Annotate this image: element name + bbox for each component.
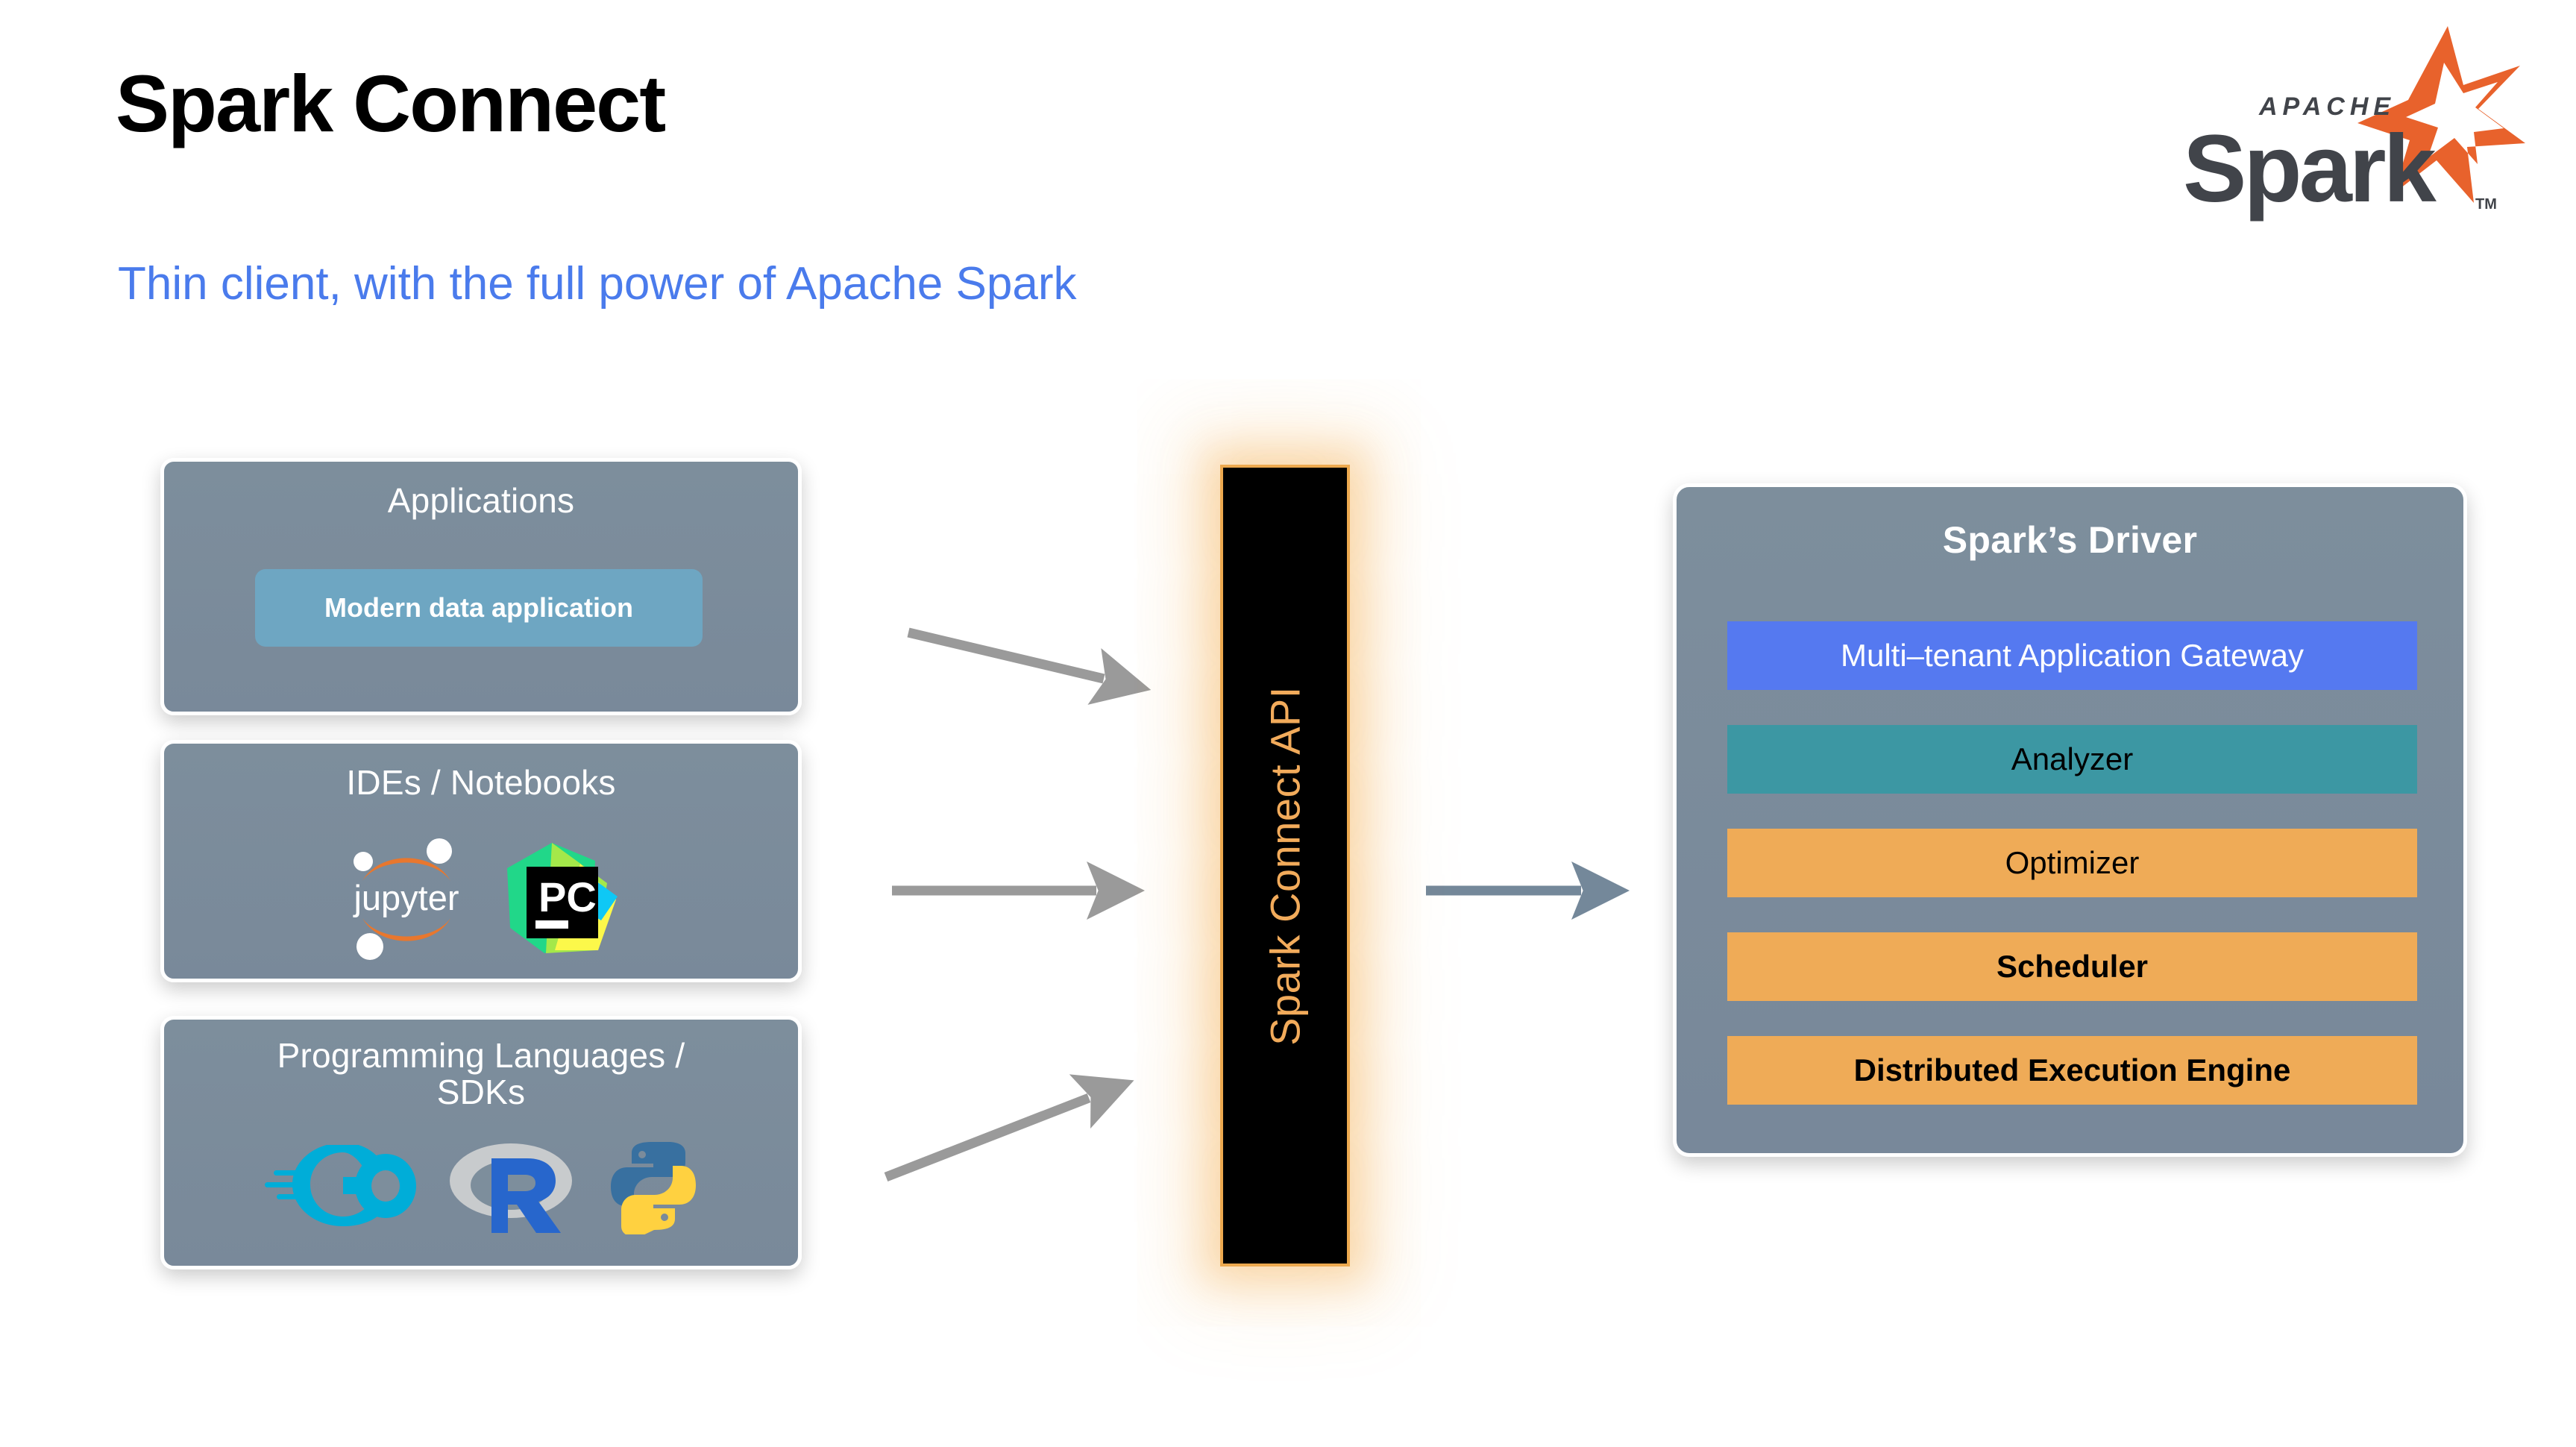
card-ides-notebooks[interactable]: IDEs / Notebooks jupyter PC: [160, 740, 802, 982]
driver-row-label: Multi–tenant Application Gateway: [1841, 638, 2304, 674]
language-logo-row: [164, 1137, 798, 1234]
driver-row-label: Scheduler: [1997, 949, 2148, 985]
jupyter-wordmark: jupyter: [352, 878, 459, 917]
driver-row-label: Analyzer: [2011, 741, 2133, 777]
card-languages-title-line1: Programming Languages /: [164, 1038, 798, 1074]
spark-driver-title: Spark’s Driver: [1677, 487, 2463, 562]
page-title: Spark Connect: [116, 63, 665, 144]
card-programming-languages[interactable]: Programming Languages / SDKs: [160, 1016, 802, 1269]
pycharm-wordmark: PC: [538, 873, 597, 920]
python-logo: [605, 1137, 702, 1234]
arrow-languages-to-api: [886, 1098, 1089, 1177]
spark-wordmark: Spark: [2183, 116, 2437, 222]
driver-row[interactable]: Multi–tenant Application Gateway: [1727, 621, 2417, 690]
card-ides-title: IDEs / Notebooks: [164, 744, 798, 801]
pycharm-logo: PC: [503, 838, 622, 958]
driver-row-label: Optimizer: [2005, 845, 2140, 881]
apache-spark-logo: APACHE Spark TM: [2162, 16, 2535, 222]
trademark-symbol: TM: [2475, 196, 2497, 213]
modern-data-application-pill[interactable]: Modern data application: [255, 569, 703, 647]
go-logo: [260, 1145, 417, 1227]
card-applications[interactable]: Applications Modern data application: [160, 458, 802, 715]
driver-row[interactable]: Optimizer: [1727, 829, 2417, 897]
driver-row[interactable]: Analyzer: [1727, 725, 2417, 794]
driver-row[interactable]: Distributed Execution Engine: [1727, 1036, 2417, 1105]
jupyter-logo: jupyter: [340, 832, 473, 964]
driver-row-label: Distributed Execution Engine: [1854, 1052, 2291, 1088]
driver-row-list: Multi–tenant Application GatewayAnalyzer…: [1727, 621, 2417, 1140]
ide-logo-row: jupyter PC: [164, 832, 798, 964]
spark-driver-panel[interactable]: Spark’s Driver Multi–tenant Application …: [1673, 483, 2467, 1157]
arrow-applications-to-api: [908, 633, 1104, 679]
card-languages-title: Programming Languages / SDKs: [164, 1020, 798, 1111]
r-logo: [444, 1137, 578, 1234]
spark-connect-api-label: Spark Connect API: [1261, 686, 1310, 1046]
spark-connect-api-bar[interactable]: Spark Connect API: [1220, 465, 1350, 1266]
card-applications-title: Applications: [164, 462, 798, 519]
driver-row[interactable]: Scheduler: [1727, 932, 2417, 1001]
page-subtitle: Thin client, with the full power of Apac…: [118, 261, 1076, 307]
card-languages-title-line2: SDKs: [164, 1074, 798, 1111]
